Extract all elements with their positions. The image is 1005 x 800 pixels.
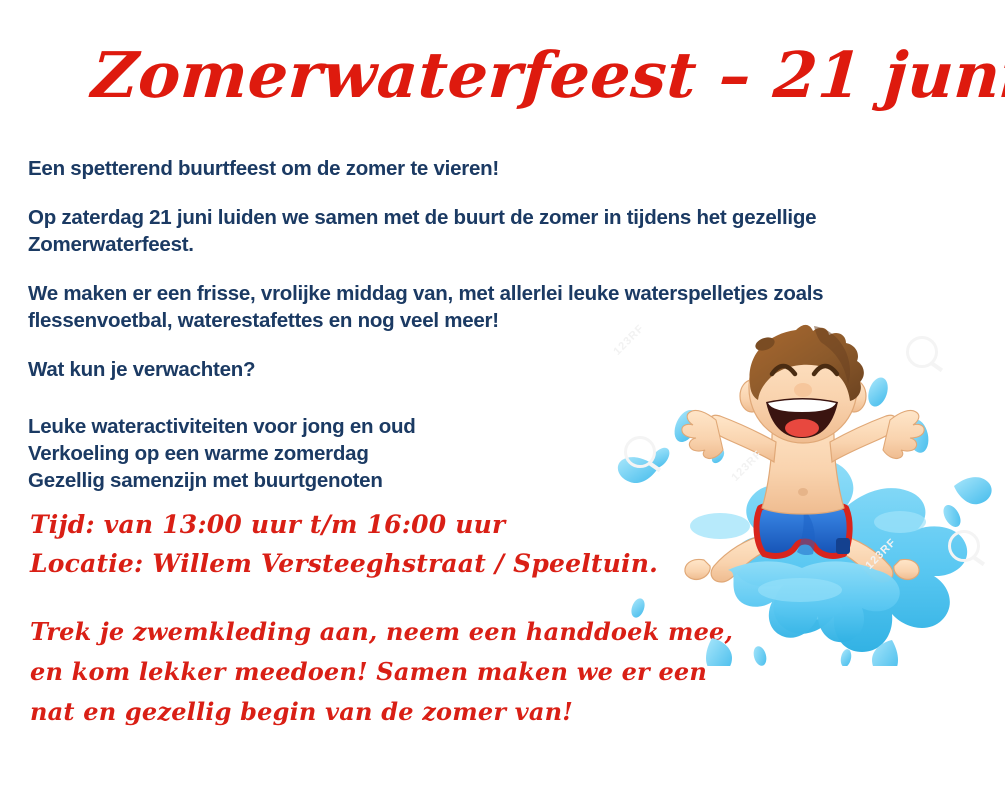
paragraph-2: Op zaterdag 21 juni luiden we samen met …	[28, 204, 918, 258]
page-title: Zomerwaterfeest – 21 juni	[89, 36, 914, 114]
event-details: Tijd: van 13:00 uur t/m 16:00 uur Locati…	[30, 505, 658, 583]
paragraph-2-line-1: Op zaterdag 21 juni luiden we samen met …	[28, 204, 918, 231]
closing-line-3: nat en gezellig begin van de zomer van!	[30, 692, 733, 732]
intro-line: Een spetterend buurtfeest om de zomer te…	[28, 155, 918, 182]
boy-head	[740, 325, 866, 443]
event-time-line: Tijd: van 13:00 uur t/m 16:00 uur	[30, 505, 658, 544]
paragraph-2-line-2: Zomerwaterfeest.	[28, 231, 918, 258]
poster-canvas: Zomerwaterfeest – 21 juni Een spetterend…	[0, 0, 1005, 800]
water-splash-boy-illustration: 123RF 123RF 123RF	[600, 308, 1005, 666]
event-location-line: Locatie: Willem Versteeghstraat / Speelt…	[30, 544, 658, 583]
intro-paragraph: Een spetterend buurtfeest om de zomer te…	[28, 155, 918, 182]
paragraph-3-line-1: We maken er een frisse, vrolijke middag …	[28, 280, 918, 307]
